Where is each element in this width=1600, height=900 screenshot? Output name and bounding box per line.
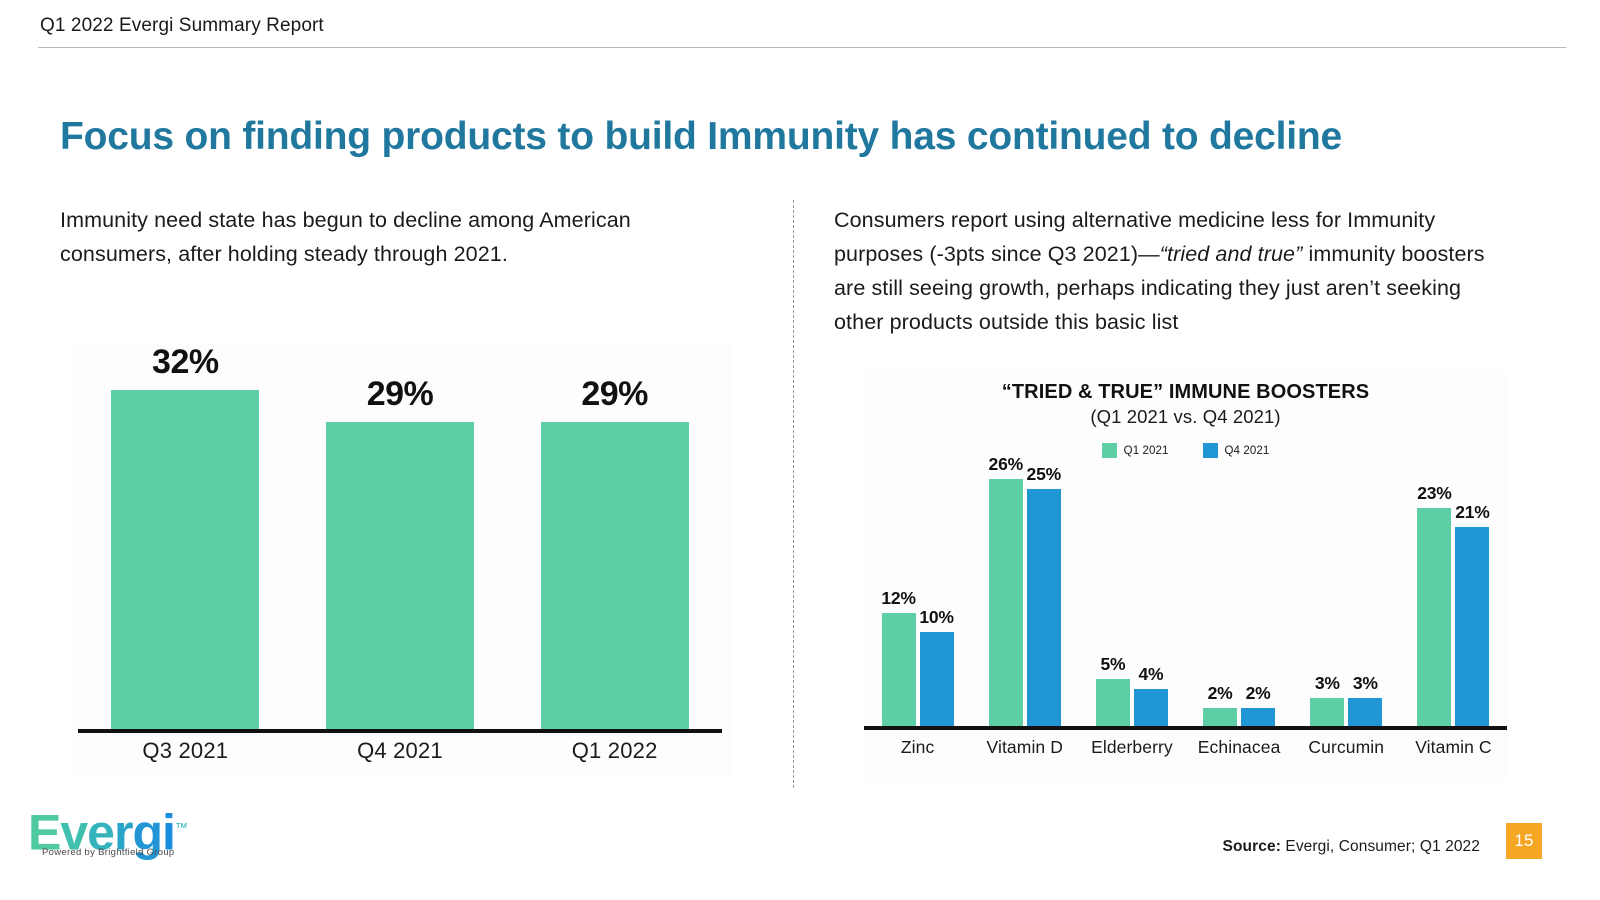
right-chart-tick-label: Elderberry — [1078, 737, 1185, 758]
page-title: Focus on finding products to build Immun… — [60, 115, 1540, 159]
left-chart-value-label: 29% — [367, 375, 434, 414]
right-chart-bar — [989, 479, 1023, 727]
right-chart-bar-slot: 26% — [989, 460, 1023, 727]
right-chart-axis-line — [864, 726, 1507, 730]
left-chart-bar-group: 29% — [507, 348, 722, 730]
right-chart-bar-slot: 5% — [1096, 460, 1130, 727]
right-chart-bar-slot: 12% — [882, 460, 916, 727]
right-chart-bar — [1455, 527, 1489, 727]
right-chart-title: “TRIED & TRUE” IMMUNE BOOSTERS — [864, 381, 1507, 404]
left-chart-tick-label: Q4 2021 — [293, 738, 508, 764]
right-chart-bar — [1096, 679, 1130, 727]
left-chart-tick-label: Q1 2022 — [507, 738, 722, 764]
source-label: Source: — [1223, 838, 1281, 855]
right-chart-value-label: 23% — [1417, 483, 1451, 504]
right-chart-bar-slot: 3% — [1310, 460, 1344, 727]
right-chart-bar — [882, 613, 916, 727]
right-chart-value-label: 26% — [989, 454, 1023, 475]
header-title: Q1 2022 Evergi Summary Report — [40, 15, 324, 37]
left-chart-value-label: 32% — [152, 343, 219, 382]
right-chart-bar-group: 5%4% — [1078, 460, 1185, 727]
right-chart-value-label: 5% — [1100, 654, 1125, 675]
right-chart-bar — [1027, 489, 1061, 727]
right-chart-legend-item[interactable]: Q1 2021 — [1102, 443, 1169, 458]
right-chart-bar — [920, 632, 954, 727]
left-chart-plot: 32%29%29% — [78, 348, 722, 730]
right-chart-tick-label: Vitamin D — [971, 737, 1078, 758]
right-chart-value-label: 3% — [1353, 673, 1378, 694]
right-chart-value-label: 2% — [1246, 683, 1271, 704]
left-chart-bar — [326, 422, 474, 730]
evergi-logo: Evergi™ Powered by Brightfield Group — [28, 800, 238, 872]
right-chart-value-label: 25% — [1027, 464, 1061, 485]
right-chart-bar-slot: 4% — [1134, 460, 1168, 727]
right-chart-bar-slot: 10% — [920, 460, 954, 727]
right-chart-legend-label: Q4 2021 — [1225, 445, 1270, 457]
logo-tagline: Powered by Brightfield Group — [42, 847, 175, 858]
right-chart-bar — [1417, 508, 1451, 727]
source-note: Source: Evergi, Consumer; Q1 2022 — [1223, 838, 1480, 856]
right-chart-bar — [1241, 708, 1275, 727]
right-chart-bar — [1348, 698, 1382, 727]
left-chart-value-label: 29% — [581, 375, 648, 414]
legend-swatch-icon — [1203, 443, 1218, 458]
right-chart-bar-group: 26%25% — [971, 460, 1078, 727]
header-divider — [38, 47, 1566, 48]
right-chart-value-label: 12% — [881, 588, 915, 609]
slide: Q1 2022 Evergi Summary Report Focus on f… — [0, 0, 1600, 900]
right-chart-bar — [1310, 698, 1344, 727]
header: Q1 2022 Evergi Summary Report — [0, 0, 1600, 48]
right-chart-legend-item[interactable]: Q4 2021 — [1203, 443, 1270, 458]
right-chart-subtitle: (Q1 2021 vs. Q4 2021) — [864, 406, 1507, 428]
left-chart-tick-label: Q3 2021 — [78, 738, 293, 764]
right-chart-plot: 12%10%26%25%5%4%2%2%3%3%23%21% — [864, 460, 1507, 727]
right-chart-bar-group: 2%2% — [1186, 460, 1293, 727]
right-chart-legend-label: Q1 2021 — [1124, 445, 1169, 457]
legend-swatch-icon — [1102, 443, 1117, 458]
right-chart-bar — [1203, 708, 1237, 727]
right-chart-bar-slot: 2% — [1203, 460, 1237, 727]
right-body-copy: Consumers report using alternative medic… — [834, 203, 1514, 339]
left-chart-bar-group: 29% — [293, 348, 508, 730]
right-chart-value-label: 10% — [919, 607, 953, 628]
logo-trademark-icon: ™ — [175, 820, 188, 835]
right-chart-bar-slot: 2% — [1241, 460, 1275, 727]
right-chart-tick-label: Curcumin — [1293, 737, 1400, 758]
right-chart-bar-slot: 23% — [1417, 460, 1451, 727]
right-chart-bar-group: 3%3% — [1293, 460, 1400, 727]
right-chart-bar-slot: 21% — [1455, 460, 1489, 727]
right-chart-bar-slot: 3% — [1348, 460, 1382, 727]
left-chart-x-axis: Q3 2021Q4 2021Q1 2022 — [78, 738, 722, 772]
right-chart-tick-label: Echinacea — [1186, 737, 1293, 758]
right-chart-value-label: 21% — [1455, 502, 1489, 523]
left-body-copy: Immunity need state has begun to decline… — [60, 203, 740, 271]
page-number-badge: 15 — [1506, 823, 1542, 859]
left-chart-bar-group: 32% — [78, 348, 293, 730]
right-chart-x-axis: ZincVitamin DElderberryEchinaceaCurcumin… — [864, 737, 1507, 758]
right-chart-bar — [1134, 689, 1168, 727]
vertical-divider — [793, 200, 794, 788]
right-chart-value-label: 3% — [1315, 673, 1340, 694]
right-chart-bar-group: 12%10% — [864, 460, 971, 727]
right-chart-legend: Q1 2021Q4 2021 — [864, 443, 1507, 458]
right-chart-value-label: 2% — [1208, 683, 1233, 704]
right-chart-tick-label: Zinc — [864, 737, 971, 758]
left-chart-bar — [541, 422, 689, 730]
right-chart-value-label: 4% — [1138, 664, 1163, 685]
right-chart-bar-slot: 25% — [1027, 460, 1061, 727]
source-text: Evergi, Consumer; Q1 2022 — [1281, 838, 1480, 855]
right-copy-emphasis: “tried and true” — [1160, 242, 1303, 266]
right-chart-bar-group: 23%21% — [1400, 460, 1507, 727]
right-chart-tick-label: Vitamin C — [1400, 737, 1507, 758]
left-chart-bar — [111, 390, 259, 730]
left-chart-axis-line — [78, 729, 722, 733]
